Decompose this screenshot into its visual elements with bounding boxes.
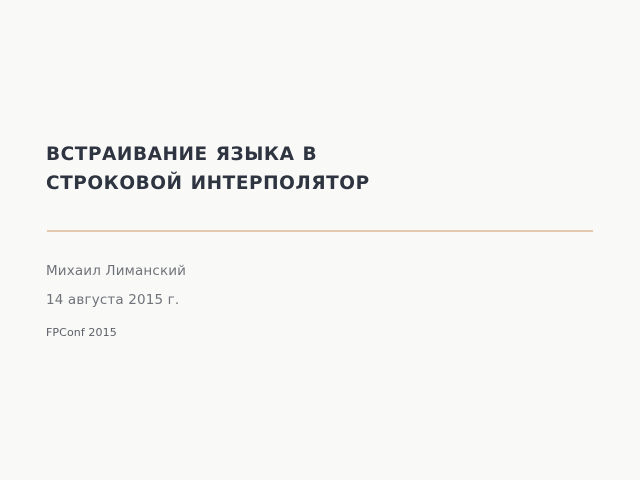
conference-name: FPConf 2015 bbox=[46, 325, 594, 340]
page-title: Встраивание языка в строковой интерполят… bbox=[46, 140, 446, 198]
presentation-date: 14 августа 2015 г. bbox=[46, 286, 594, 315]
author-name: Михаил Лиманский bbox=[46, 257, 594, 286]
slide-metadata: Михаил Лиманский 14 августа 2015 г. FPCo… bbox=[46, 257, 594, 340]
title-slide: Встраивание языка в строковой интерполят… bbox=[0, 0, 640, 480]
slide-content-block: Встраивание языка в строковой интерполят… bbox=[46, 140, 594, 340]
title-divider bbox=[47, 230, 593, 232]
